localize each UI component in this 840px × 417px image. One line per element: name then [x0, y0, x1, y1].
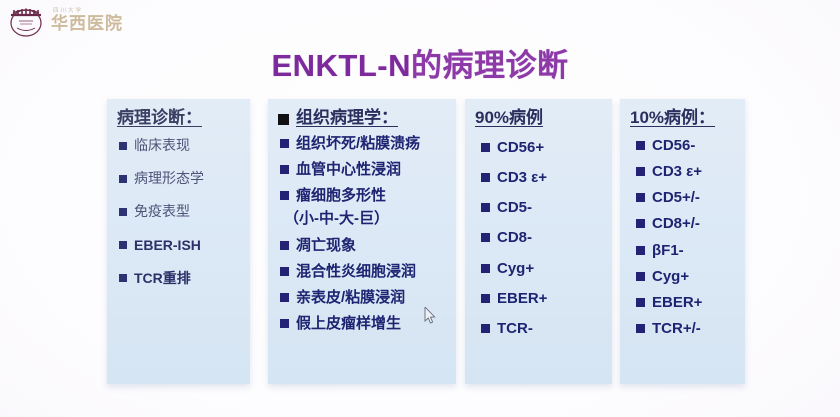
list-item-label: CD56- [652, 137, 695, 154]
slide-canvas: 四川大学 华西医院 ENKTL-N的病理诊断 病理诊断： 临床表现 病理形态学 … [0, 0, 840, 417]
square-bullet-icon [280, 267, 289, 276]
panel-header-label: 10%病例： [630, 109, 715, 128]
list-item: EBER+ [481, 290, 604, 307]
list-item-label: CD5+/- [652, 189, 700, 206]
list-item: Cyg+ [636, 268, 737, 285]
panel-header: 90%病例 [475, 109, 604, 128]
list-item: 瘤细胞多形性 [280, 187, 448, 204]
square-bullet-icon [636, 324, 645, 333]
list-item: CD56- [636, 137, 737, 154]
list-item: TCR+/- [636, 320, 737, 337]
list-item: CD8+/- [636, 215, 737, 232]
square-bullet-icon [280, 241, 289, 250]
list-item-label: CD3 ε+ [652, 163, 702, 180]
list-item-label: Cyg+ [497, 260, 534, 277]
list-item-label: βF1- [652, 242, 684, 259]
page-title: ENKTL-N的病理诊断 [0, 40, 840, 85]
list-item-continuation: （小-中-大-巨） [280, 210, 448, 227]
list-item: 亲表皮/粘膜浸润 [280, 289, 448, 306]
panel-header: 10%病例： [630, 109, 737, 128]
list-item-label: 血管中心性浸润 [296, 161, 401, 178]
panel-header: 组织病理学： [278, 109, 448, 128]
list-item: 血管中心性浸润 [280, 161, 448, 178]
square-bullet-icon [481, 264, 490, 273]
square-bullet-icon [278, 114, 289, 125]
list-item-label: CD5- [497, 199, 532, 216]
list-item-label: 凋亡现象 [296, 237, 356, 254]
square-bullet-icon [280, 139, 289, 148]
page-title-latin: ENKTL-N [271, 48, 411, 83]
list-item: 混合性炎细胞浸润 [280, 263, 448, 280]
list-item-label: TCR+/- [652, 320, 701, 337]
panel-cases-10-percent: 10%病例： CD56- CD3 ε+ CD5+/- CD8+/- βF1- [620, 99, 745, 384]
logo-title: 华西医院 [51, 16, 123, 33]
square-bullet-icon [636, 272, 645, 281]
list-item-label: EBER-ISH [134, 237, 201, 253]
hospital-logo: 四川大学 华西医院 [8, 2, 208, 40]
square-bullet-icon [636, 141, 645, 150]
square-bullet-icon [481, 324, 490, 333]
list-item-label: EBER+ [652, 294, 702, 311]
list-item-label: CD3 ε+ [497, 169, 547, 186]
square-bullet-icon [481, 233, 490, 242]
list-item-label: 临床表现 [134, 138, 190, 154]
square-bullet-icon [119, 175, 127, 183]
list-item: 病理形态学 [119, 171, 242, 187]
square-bullet-icon [636, 167, 645, 176]
list-item-label: 假上皮瘤样增生 [296, 315, 401, 332]
list-item: 组织坏死/粘膜溃疡 [280, 135, 448, 152]
square-bullet-icon [280, 191, 289, 200]
panel-pathologic-diagnosis: 病理诊断： 临床表现 病理形态学 免疫表型 EBER-ISH TCR重排 [107, 99, 250, 384]
list-item: TCR- [481, 320, 604, 337]
list-item-label: （小-中-大-巨） [280, 210, 389, 227]
list-item: EBER-ISH [119, 237, 242, 253]
panel-item-list: 组织坏死/粘膜溃疡 血管中心性浸润 瘤细胞多形性 （小-中-大-巨） 凋亡现象 … [280, 135, 448, 333]
panel-header-label: 90%病例 [475, 109, 543, 128]
list-item-label: CD8- [497, 229, 532, 246]
square-bullet-icon [636, 298, 645, 307]
square-bullet-icon [280, 319, 289, 328]
list-item: βF1- [636, 242, 737, 259]
square-bullet-icon [481, 294, 490, 303]
page-title-cn: 的病理诊断 [411, 48, 569, 83]
list-item-label: 亲表皮/粘膜浸润 [296, 289, 405, 306]
panel-item-list: CD56- CD3 ε+ CD5+/- CD8+/- βF1- Cyg+ [636, 137, 737, 338]
square-bullet-icon [481, 203, 490, 212]
list-item: 免疫表型 [119, 204, 242, 220]
square-bullet-icon [636, 219, 645, 228]
list-item-label: TCR- [497, 320, 533, 337]
list-item-label: CD8+/- [652, 215, 700, 232]
list-item: 假上皮瘤样增生 [280, 315, 448, 332]
list-item-label: CD56+ [497, 139, 544, 156]
list-item-label: 瘤细胞多形性 [296, 187, 386, 204]
square-bullet-icon [119, 142, 127, 150]
square-bullet-icon [481, 173, 490, 182]
panel-header-label: 病理诊断： [117, 109, 202, 128]
list-item-label: 混合性炎细胞浸润 [296, 263, 416, 280]
panel-item-list: CD56+ CD3 ε+ CD5- CD8- Cyg+ EBER+ [481, 139, 604, 338]
list-item: 凋亡现象 [280, 237, 448, 254]
list-item-label: Cyg+ [652, 268, 689, 285]
list-item: CD5+/- [636, 189, 737, 206]
list-item: CD56+ [481, 139, 604, 156]
university-seal-icon [8, 4, 44, 38]
square-bullet-icon [481, 143, 490, 152]
list-item: TCR重排 [119, 270, 242, 286]
list-item-label: EBER+ [497, 290, 547, 307]
list-item-label: 免疫表型 [134, 204, 190, 220]
panel-header-label: 组织病理学： [296, 109, 398, 128]
square-bullet-icon [119, 241, 127, 249]
panel-header: 病理诊断： [117, 109, 242, 128]
list-item-label: 组织坏死/粘膜溃疡 [296, 135, 420, 152]
square-bullet-icon [636, 193, 645, 202]
square-bullet-icon [119, 274, 127, 282]
list-item: CD5- [481, 199, 604, 216]
list-item: 临床表现 [119, 138, 242, 154]
list-item: CD3 ε+ [636, 163, 737, 180]
square-bullet-icon [119, 208, 127, 216]
square-bullet-icon [280, 293, 289, 302]
list-item-label: 病理形态学 [134, 171, 204, 187]
list-item-label: TCR重排 [134, 270, 191, 286]
square-bullet-icon [280, 165, 289, 174]
square-bullet-icon [636, 246, 645, 255]
panel-item-list: 临床表现 病理形态学 免疫表型 EBER-ISH TCR重排 [119, 138, 242, 286]
list-item: Cyg+ [481, 260, 604, 277]
list-item: EBER+ [636, 294, 737, 311]
panel-cases-90-percent: 90%病例 CD56+ CD3 ε+ CD5- CD8- Cyg+ [465, 99, 612, 384]
list-item: CD8- [481, 229, 604, 246]
panel-histopathology: 组织病理学： 组织坏死/粘膜溃疡 血管中心性浸润 瘤细胞多形性 （小-中-大-巨… [268, 99, 456, 384]
list-item: CD3 ε+ [481, 169, 604, 186]
